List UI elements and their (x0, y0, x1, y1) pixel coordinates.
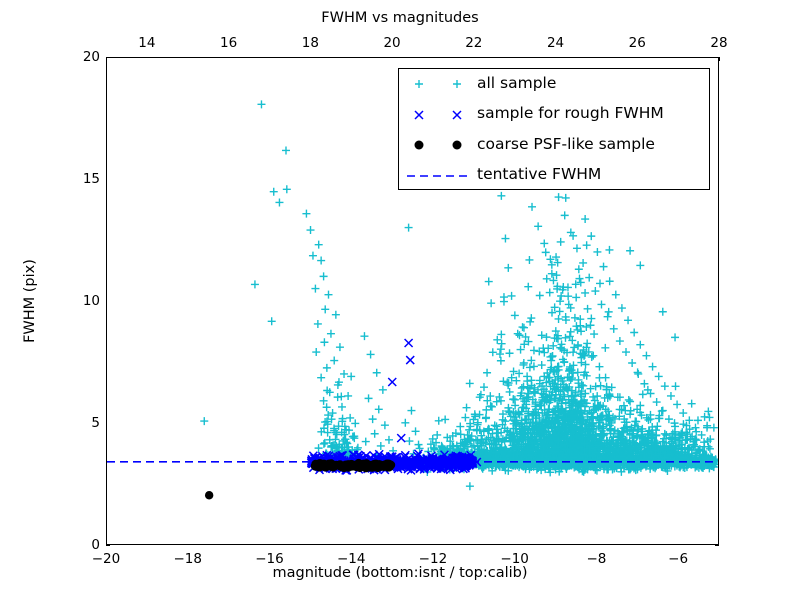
plus-marker-icon (399, 69, 477, 99)
legend-label: sample for rough FWHM (477, 106, 664, 124)
axis-tick-label: −14 (337, 551, 366, 567)
dashed-line-icon (399, 161, 477, 191)
x-axis-label: magnitude (bottom:isnt / top:calib) (0, 565, 800, 581)
series-rough-fwhm (307, 339, 481, 474)
legend-item-psf-like[interactable]: coarse PSF-like sample (399, 130, 709, 161)
axis-tick-label: −16 (255, 551, 284, 567)
axis-tick-label: 18 (302, 35, 319, 51)
axis-tick-label: 24 (547, 35, 564, 51)
axis-tick-label: 20 (58, 49, 100, 65)
axis-tick-label: −6 (668, 551, 688, 567)
cross-marker-icon (399, 100, 477, 130)
axis-tick-label: 5 (58, 415, 100, 431)
axis-tick-mark (106, 545, 110, 546)
legend-label: coarse PSF-like sample (477, 137, 655, 155)
legend-item-rough-fwhm[interactable]: sample for rough FWHM (399, 100, 709, 131)
axis-tick-label: −10 (500, 551, 529, 567)
axis-tick-label: −8 (586, 551, 606, 567)
matplotlib-figure: FWHM vs magnitudes magnitude (bottom:isn… (0, 0, 800, 600)
page-title: FWHM vs magnitudes (0, 10, 800, 26)
axis-tick-label: 10 (58, 293, 100, 309)
legend-label: tentative FWHM (477, 167, 601, 185)
axis-tick-label: 16 (220, 35, 237, 51)
series-coarse-psf-like (205, 459, 395, 500)
legend-item-all-sample[interactable]: all sample (399, 69, 709, 100)
axis-tick-label: 26 (629, 35, 646, 51)
axis-tick-label: 14 (138, 35, 155, 51)
legend-label: all sample (477, 76, 556, 94)
axis-tick-label: −18 (173, 551, 202, 567)
axis-tick-label: 0 (58, 537, 100, 553)
axis-tick-label: 22 (465, 35, 482, 51)
legend-item-tentative-fwhm[interactable]: tentative FWHM (399, 161, 709, 192)
axis-tick-mark (715, 545, 719, 546)
legend: all sample sample for rough FWHM coarse … (398, 68, 710, 190)
axis-tick-label: 20 (383, 35, 400, 51)
dot-marker-icon (399, 130, 477, 160)
y-axis-label: FWHM (pix) (22, 57, 38, 545)
axis-tick-label: 15 (58, 171, 100, 187)
axis-tick-label: 28 (710, 35, 727, 51)
axis-tick-mark (719, 57, 720, 61)
axis-tick-label: −12 (419, 551, 448, 567)
axis-tick-label: −20 (92, 551, 121, 567)
